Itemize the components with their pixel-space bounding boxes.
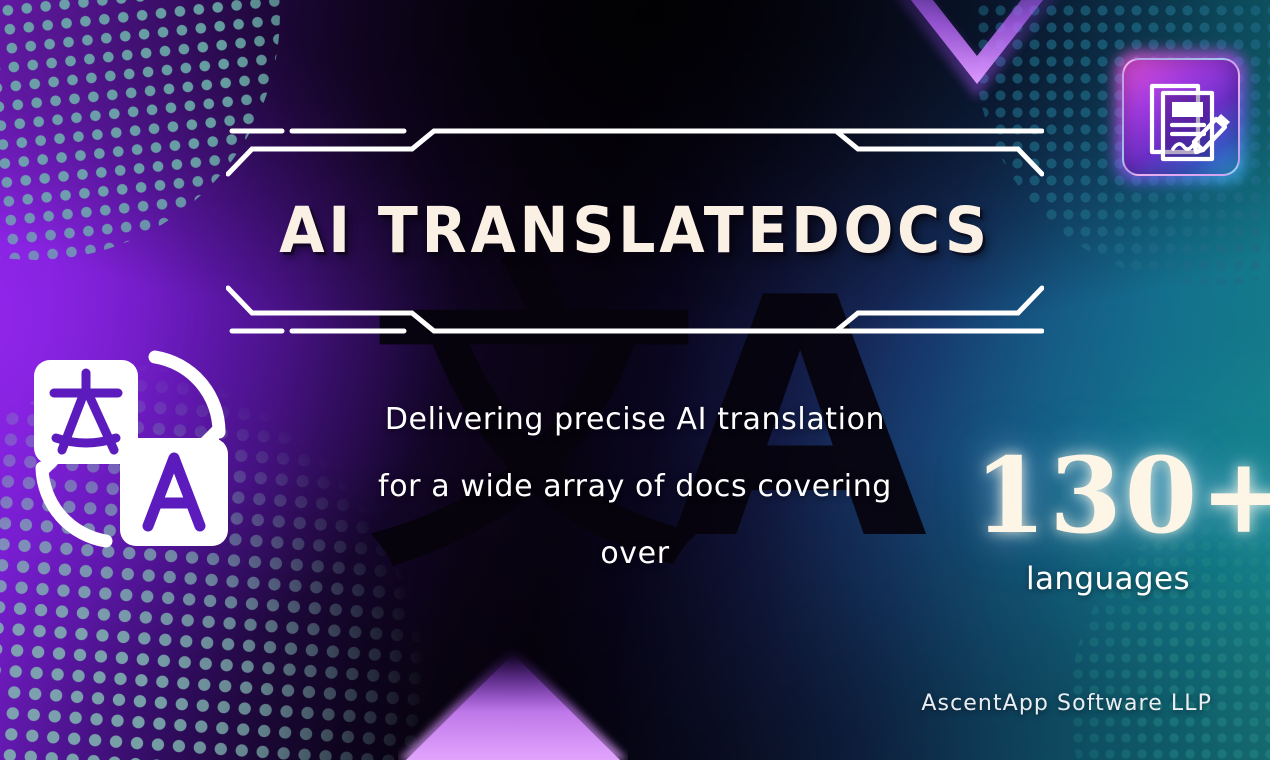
document-pen-glyph [1124, 60, 1240, 176]
page-title: AI TRANSLATEDOCS [44, 196, 1225, 266]
translate-icon [22, 340, 240, 558]
document-pen-icon [1122, 58, 1240, 176]
company-name: AscentApp Software LLP [921, 691, 1212, 716]
subtitle-line-1: Delivering precise AI translation [300, 386, 970, 453]
subtitle-line-3: over [300, 520, 970, 587]
document-icon-tile [1122, 58, 1240, 176]
subtitle: Delivering precise AI translation for a … [300, 386, 970, 587]
promo-poster: 文A AI TRANSLATEDOCS Delivering precise A… [0, 0, 1270, 760]
subtitle-line-2: for a wide array of docs covering [300, 453, 970, 520]
